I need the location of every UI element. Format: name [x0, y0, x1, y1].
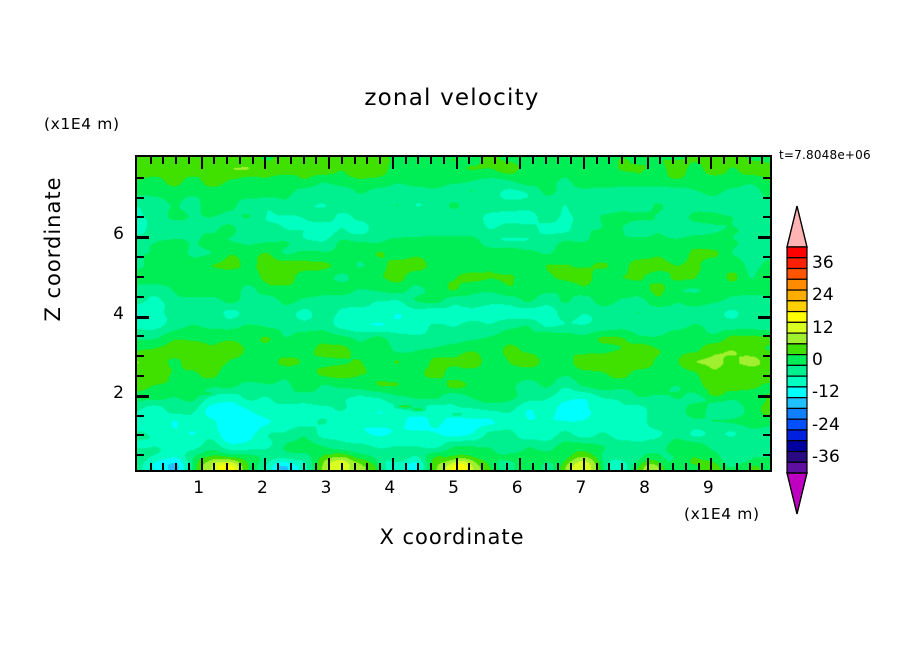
x-minor-tick-top [290, 157, 292, 164]
x-minor-tick-top [443, 157, 445, 164]
x-minor-tick [698, 463, 700, 470]
y-minor-tick [137, 276, 144, 278]
x-minor-tick [277, 463, 279, 470]
x-minor-tick [749, 463, 751, 470]
y-minor-tick-right [763, 434, 770, 436]
y-minor-tick [137, 434, 144, 436]
x-major-tick [392, 458, 394, 470]
x-major-tick-top [456, 157, 458, 169]
y-minor-tick [137, 355, 144, 357]
y-minor-tick [137, 415, 144, 417]
x-major-tick [647, 458, 649, 470]
x-major-tick-top [647, 157, 649, 169]
y-major-tick [137, 236, 149, 239]
x-minor-tick [417, 463, 419, 470]
plot-area [135, 155, 772, 472]
colorbar-tick-label: 0 [812, 350, 823, 370]
x-minor-tick [315, 463, 317, 470]
x-minor-tick-top [239, 157, 241, 164]
y-minor-tick-right [763, 197, 770, 199]
x-minor-tick-top [506, 157, 508, 164]
y-minor-tick-right [763, 355, 770, 357]
x-minor-tick-top [175, 157, 177, 164]
x-minor-tick [634, 463, 636, 470]
x-minor-tick [761, 463, 763, 470]
x-minor-tick [366, 463, 368, 470]
x-major-tick [710, 458, 712, 470]
x-minor-tick [672, 463, 674, 470]
x-major-tick-top [201, 157, 203, 169]
x-minor-tick-top [494, 157, 496, 164]
x-major-tick-top [710, 157, 712, 169]
x-minor-tick-top [277, 157, 279, 164]
x-minor-tick-top [481, 157, 483, 164]
y-minor-tick [137, 335, 144, 337]
x-tick-label: 2 [247, 478, 277, 498]
x-minor-tick [239, 463, 241, 470]
x-minor-tick [213, 463, 215, 470]
x-axis-title: X coordinate [0, 525, 904, 549]
x-minor-tick-top [698, 157, 700, 164]
x-minor-tick-top [557, 157, 559, 164]
x-minor-tick [188, 463, 190, 470]
x-minor-tick-top [621, 157, 623, 164]
x-major-tick-top [392, 157, 394, 169]
x-tick-label: 4 [375, 478, 405, 498]
x-minor-tick-top [252, 157, 254, 164]
x-minor-tick-top [341, 157, 343, 164]
x-minor-tick-top [596, 157, 598, 164]
colorbar-tick-label: 24 [812, 285, 834, 305]
y-tick-label: 2 [100, 383, 124, 403]
x-minor-tick-top [303, 157, 305, 164]
x-minor-tick [354, 463, 356, 470]
colorbar-tick-label: 12 [812, 318, 834, 338]
x-minor-tick-top [685, 157, 687, 164]
x-minor-tick [481, 463, 483, 470]
y-minor-tick-right [763, 177, 770, 179]
x-minor-tick-top [570, 157, 572, 164]
x-minor-tick-top [468, 157, 470, 164]
x-minor-tick [405, 463, 407, 470]
x-tick-label: 8 [630, 478, 660, 498]
x-minor-tick [468, 463, 470, 470]
x-minor-tick-top [213, 157, 215, 164]
x-minor-tick-top [723, 157, 725, 164]
x-minor-tick-top [226, 157, 228, 164]
x-minor-tick [532, 463, 534, 470]
y-minor-tick-right [763, 375, 770, 377]
colorbar-swatches [784, 205, 810, 515]
x-minor-tick-top [379, 157, 381, 164]
x-minor-tick-top [545, 157, 547, 164]
x-tick-label: 3 [311, 478, 341, 498]
x-major-tick [328, 458, 330, 470]
x-minor-tick-top [150, 157, 152, 164]
y-minor-tick [137, 216, 144, 218]
x-minor-tick [494, 463, 496, 470]
y-minor-tick [137, 454, 144, 456]
contour-field [137, 157, 770, 470]
x-minor-tick [685, 463, 687, 470]
x-minor-tick [341, 463, 343, 470]
y-minor-tick [137, 197, 144, 199]
x-minor-tick [506, 463, 508, 470]
x-tick-label: 7 [566, 478, 596, 498]
x-minor-tick-top [162, 157, 164, 164]
x-minor-tick-top [634, 157, 636, 164]
x-minor-tick [545, 463, 547, 470]
x-minor-tick [379, 463, 381, 470]
x-minor-tick-top [417, 157, 419, 164]
y-axis-title: Z coordinate [41, 169, 65, 329]
page-title: zonal velocity [0, 85, 904, 111]
x-major-tick [201, 458, 203, 470]
colorbar-tick-label: 36 [812, 253, 834, 273]
y-major-tick-right [758, 236, 770, 239]
x-minor-tick-top [749, 157, 751, 164]
x-minor-tick [736, 463, 738, 470]
x-minor-tick [659, 463, 661, 470]
y-minor-tick [137, 375, 144, 377]
y-tick-label: 6 [100, 224, 124, 244]
y-minor-tick [137, 296, 144, 298]
x-tick-label: 9 [693, 478, 723, 498]
x-minor-tick [557, 463, 559, 470]
y-minor-tick-right [763, 276, 770, 278]
y-major-tick-right [758, 395, 770, 398]
x-minor-tick-top [672, 157, 674, 164]
x-minor-tick [443, 463, 445, 470]
x-major-tick [519, 458, 521, 470]
x-minor-tick-top [736, 157, 738, 164]
x-minor-tick [226, 463, 228, 470]
x-minor-tick-top [366, 157, 368, 164]
x-minor-tick [723, 463, 725, 470]
x-major-tick-top [328, 157, 330, 169]
y-unit-label: (x1E4 m) [44, 115, 120, 133]
y-minor-tick-right [763, 216, 770, 218]
x-major-tick-top [264, 157, 266, 169]
y-major-tick-right [758, 316, 770, 319]
x-minor-tick [175, 463, 177, 470]
x-minor-tick [303, 463, 305, 470]
colorbar-tick-label: -24 [812, 415, 840, 435]
y-tick-label: 4 [100, 304, 124, 324]
x-minor-tick-top [354, 157, 356, 164]
x-minor-tick [608, 463, 610, 470]
x-major-tick-top [583, 157, 585, 169]
x-minor-tick [430, 463, 432, 470]
y-major-tick [137, 316, 149, 319]
x-minor-tick-top [188, 157, 190, 164]
colorbar [784, 205, 810, 515]
figure-canvas: zonal velocity (x1E4 m) (x1E4 m) t=7.804… [0, 0, 904, 654]
x-major-tick [456, 458, 458, 470]
y-minor-tick-right [763, 454, 770, 456]
x-major-tick [264, 458, 266, 470]
x-minor-tick-top [315, 157, 317, 164]
x-minor-tick-top [405, 157, 407, 164]
x-minor-tick [150, 463, 152, 470]
x-minor-tick [162, 463, 164, 470]
x-minor-tick [252, 463, 254, 470]
time-annotation: t=7.8048e+06 [779, 148, 871, 162]
colorbar-tick-label: -12 [812, 382, 840, 402]
x-minor-tick [570, 463, 572, 470]
y-minor-tick-right [763, 335, 770, 337]
x-minor-tick-top [430, 157, 432, 164]
y-major-tick [137, 395, 149, 398]
x-major-tick [583, 458, 585, 470]
y-minor-tick-right [763, 415, 770, 417]
x-minor-tick [596, 463, 598, 470]
y-minor-tick [137, 256, 144, 258]
x-minor-tick [290, 463, 292, 470]
x-tick-label: 5 [439, 478, 469, 498]
x-unit-label: (x1E4 m) [684, 505, 760, 523]
x-minor-tick-top [532, 157, 534, 164]
x-tick-label: 6 [502, 478, 532, 498]
y-minor-tick-right [763, 256, 770, 258]
x-major-tick-top [519, 157, 521, 169]
x-minor-tick [621, 463, 623, 470]
x-minor-tick-top [761, 157, 763, 164]
x-tick-label: 1 [184, 478, 214, 498]
y-minor-tick [137, 177, 144, 179]
y-minor-tick-right [763, 296, 770, 298]
x-minor-tick-top [659, 157, 661, 164]
colorbar-tick-label: -36 [812, 447, 840, 467]
x-minor-tick-top [608, 157, 610, 164]
